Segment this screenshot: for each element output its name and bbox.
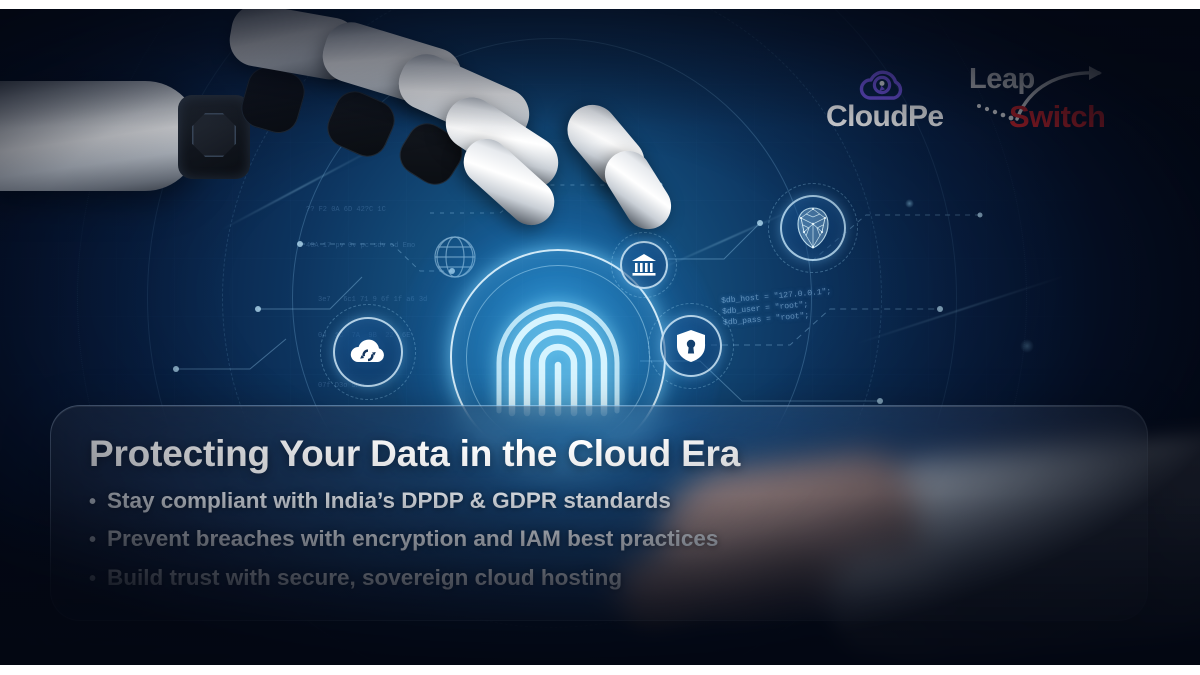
- leapswitch-logo[interactable]: Leap Switch: [963, 65, 1145, 149]
- list-item: • Prevent breaches with encryption and I…: [89, 528, 1147, 551]
- background-code-text: 40A 17 pv 0v pc sdv od Emo: [306, 241, 415, 251]
- robot-wrist-hex-plate: [192, 113, 236, 157]
- list-item: • Stay compliant with India’s DPDP & GDP…: [89, 490, 1147, 513]
- cloudpe-logo[interactable]: CloudPe: [826, 68, 950, 148]
- list-item: • Build trust with secure, sovereign clo…: [89, 567, 1147, 590]
- top-white-band: [0, 0, 1200, 9]
- page-title: Protecting Your Data in the Cloud Era: [89, 434, 1147, 475]
- list-item-label: Build trust with secure, sovereign cloud…: [107, 567, 622, 590]
- shield-lock-node: [660, 315, 722, 377]
- bullet-marker-icon: •: [89, 492, 105, 512]
- list-item-label: Stay compliant with India’s DPDP & GDPR …: [107, 490, 671, 513]
- bottom-white-band: [0, 665, 1200, 675]
- list-item-label: Prevent breaches with encryption and IAM…: [107, 528, 718, 551]
- card-content: Protecting Your Data in the Cloud Era • …: [51, 406, 1147, 589]
- bullet-marker-icon: •: [89, 569, 105, 589]
- face-scan-node: [780, 195, 846, 261]
- background-code-text: ?? F2 0A 6D 42?C 1C: [306, 205, 386, 215]
- leapswitch-word-leap: Leap: [969, 65, 1035, 94]
- bank-icon: [631, 253, 657, 277]
- artwork-canvas: ?? F2 0A 6D 42?C 1C 40A 17 pv 0v pc sdv …: [0, 9, 1200, 665]
- robot-forearm: [0, 81, 200, 191]
- cloudpe-wordmark: CloudPe: [826, 102, 950, 132]
- benefits-list: • Stay compliant with India’s DPDP & GDP…: [89, 490, 1147, 590]
- content-card: Protecting Your Data in the Cloud Era • …: [50, 405, 1148, 621]
- bullet-marker-icon: •: [89, 530, 105, 550]
- bank-node: [620, 241, 668, 289]
- shield-lock-icon: [675, 328, 707, 364]
- leapswitch-word-switch: Switch: [1009, 101, 1105, 132]
- bokeh-dot: [1020, 339, 1034, 353]
- bokeh-dot: [905, 199, 914, 208]
- cloud-sync-node: [333, 317, 403, 387]
- cloud-pin-icon: [854, 68, 916, 102]
- face-scan-icon: [794, 206, 832, 250]
- promo-banner: ?? F2 0A 6D 42?C 1C 40A 17 pv 0v pc sdv …: [0, 0, 1200, 675]
- cloud-sync-icon: [348, 336, 388, 368]
